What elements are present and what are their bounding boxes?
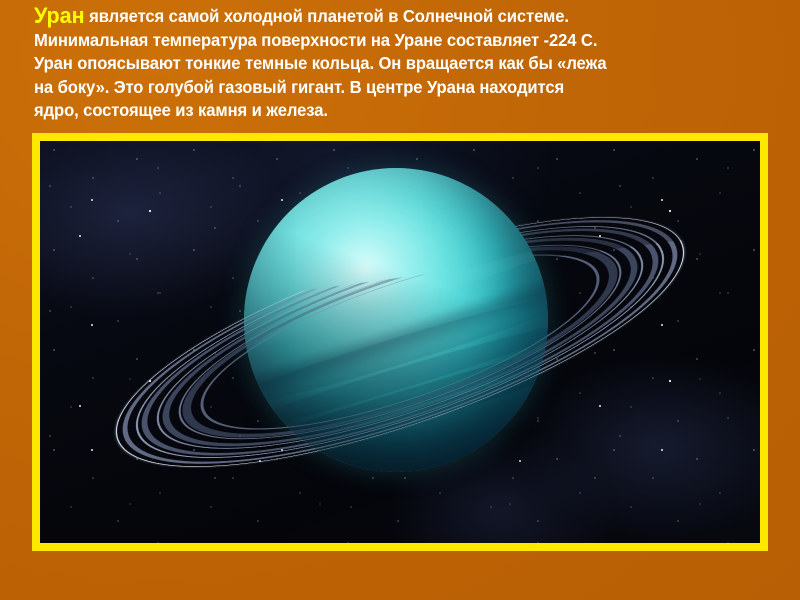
slide-caption: Уран является самой холодной планетой в … [34,4,776,123]
caption-line-5: ядро, состоящее из камня и железа. [34,99,743,123]
caption-highlight-word: Уран [34,3,85,28]
caption-line-2: Минимальная температура поверхности на У… [34,29,743,53]
planet-uranus [244,168,548,472]
caption-line-1-rest: является самой холодной планетой в Солне… [85,6,569,26]
caption-line-3: Уран опоясывают тонкие темные кольца. Он… [34,52,743,76]
planet-terminator [244,168,548,472]
caption-line-4: на боку». Это голубой газовый гигант. В … [34,76,743,100]
uranus-photo [40,141,760,543]
photo-frame [32,133,768,551]
caption-line-1: Уран является самой холодной планетой в … [34,4,743,29]
slide-uranus: Уран является самой холодной планетой в … [0,0,800,600]
